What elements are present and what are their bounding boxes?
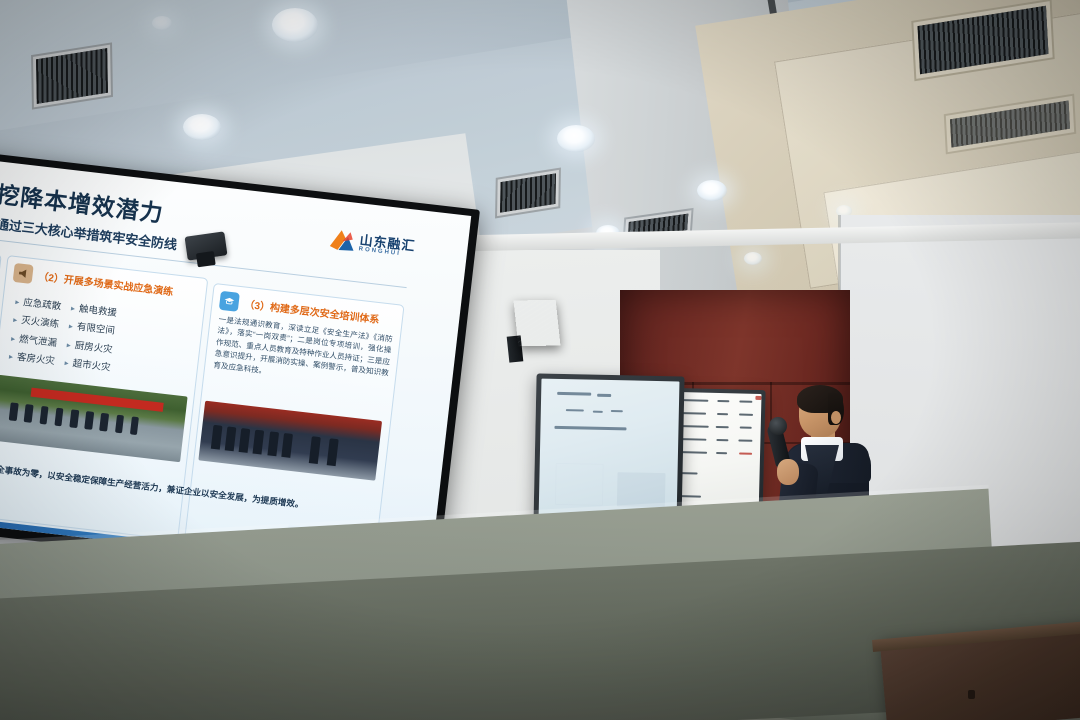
col2-bullets-right: 触电救援 有限空间 厨房火灾 超市火灾 [64,295,119,378]
desk-knob [968,690,975,699]
ceiling-downlight [697,180,727,201]
microphone-head-icon [769,417,787,435]
list-item: 客房火灾 [8,348,55,367]
ceiling-downlight [272,8,318,42]
ceiling-downlight [152,16,172,30]
presenter-hand [777,459,799,485]
presenter-ear [831,411,841,424]
presentation-slide: 空深挖降本增效潜力 —2026年通过三大核心举措筑牢安全防线 山东融汇 RONG… [0,156,471,578]
megaphone-icon [13,263,34,284]
logo-mark-icon [328,228,356,253]
list-item: 有限空间 [68,318,115,337]
list-item: 触电救援 [70,299,117,318]
ceiling-downlight [744,252,762,265]
list-item: 应急疏散 [15,293,62,312]
col2-bullets-left: 应急疏散 灭火演练 燃气泄漏 客房火灾 [8,288,63,371]
conference-room-scene: 空深挖降本增效潜力 —2026年通过三大核心举措筑牢安全防线 山东融汇 RONG… [0,0,1080,720]
graduation-cap-icon [219,291,240,312]
ceiling-downlight [557,125,595,152]
list-item: 厨房火灾 [66,336,113,355]
wall-speaker [514,300,561,346]
company-logo: 山东融汇 RONGHUI [328,228,416,260]
list-item: 灭火演练 [13,311,60,330]
ceiling-downlight [183,114,221,140]
whiteboard-surface[interactable] [539,379,680,524]
list-item: 燃气泄漏 [11,330,58,349]
list-item: 超市火灾 [64,354,111,373]
